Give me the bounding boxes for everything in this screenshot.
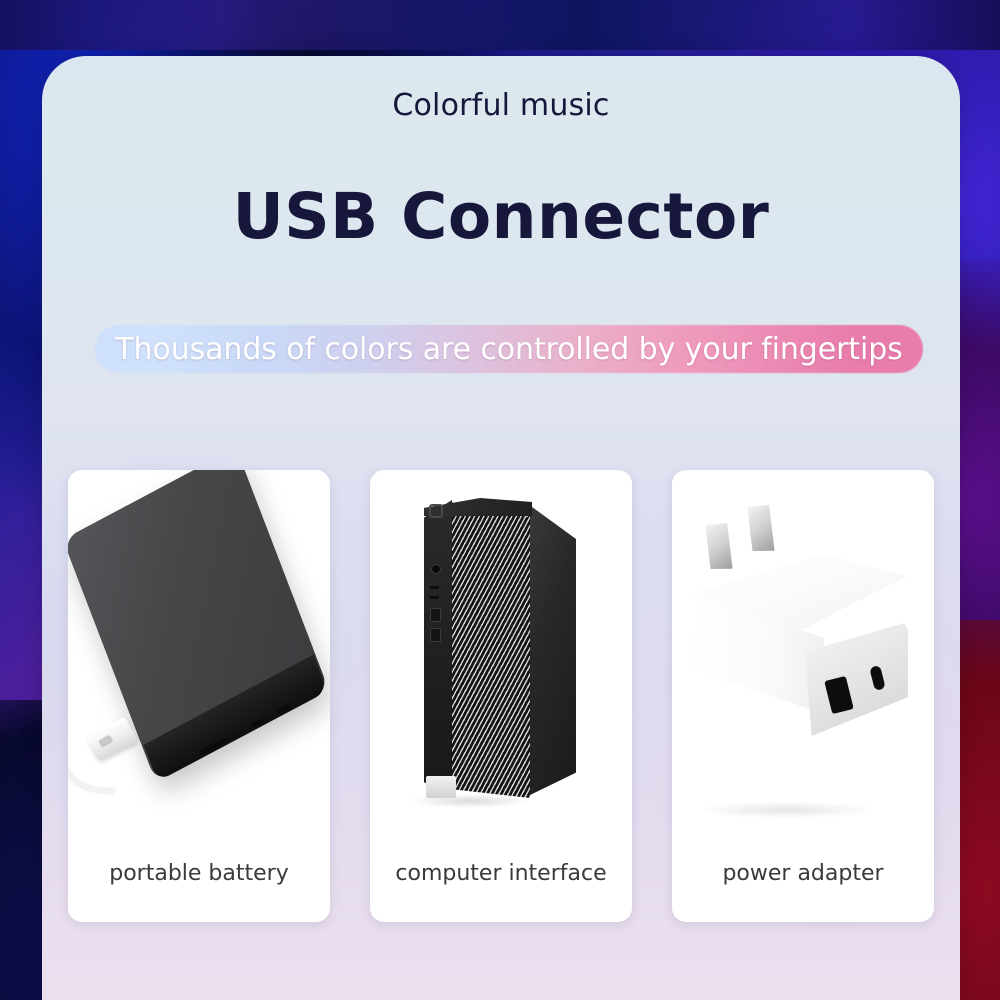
tagline-text: Thousands of colors are controlled by yo… [95, 325, 923, 373]
usb-cable [68, 735, 121, 795]
pc-indicator-1 [430, 586, 439, 589]
product-card-computer-interface[interactable]: computer interface [370, 470, 632, 922]
pc-tower-mesh-front [450, 496, 530, 798]
adapter-prong-right [743, 500, 778, 558]
pc-tower-port-column [424, 500, 452, 794]
power-bank-micro-port [250, 718, 264, 729]
background-top-streak [0, 0, 1000, 50]
audio-jack-icon [431, 564, 441, 574]
product-card-power-adapter[interactable]: power adapter [672, 470, 934, 922]
product-card-label: portable battery [68, 861, 330, 886]
power-adapter-body [688, 498, 924, 798]
pc-usb-port-1 [430, 608, 441, 622]
page-title: USB Connector [42, 180, 960, 253]
pc-indicator-2 [430, 596, 439, 599]
tagline-banner: Thousands of colors are controlled by yo… [95, 325, 923, 373]
eyebrow-text: Colorful music [42, 88, 960, 123]
power-bank-image [68, 470, 330, 854]
product-card-portable-battery[interactable]: portable battery [68, 470, 330, 922]
product-card-label: computer interface [370, 861, 632, 886]
product-card-row: portable battery [68, 470, 934, 922]
content-panel: Colorful music USB Connector Thousands o… [42, 56, 960, 1000]
adapter-prong-left [701, 518, 736, 576]
power-bank-usb-a-port [199, 737, 227, 756]
pc-tower-image [370, 470, 632, 854]
power-adapter-shadow [702, 802, 872, 818]
pc-tower-foot [426, 776, 456, 798]
power-button-icon [429, 504, 443, 518]
pc-usb-port-2 [430, 628, 441, 642]
product-card-label: power adapter [672, 861, 934, 886]
pc-tower-body [424, 490, 582, 802]
power-bank-usb-c-port [277, 703, 291, 714]
power-adapter-image [672, 470, 934, 854]
pc-tower-side-panel [528, 504, 576, 796]
